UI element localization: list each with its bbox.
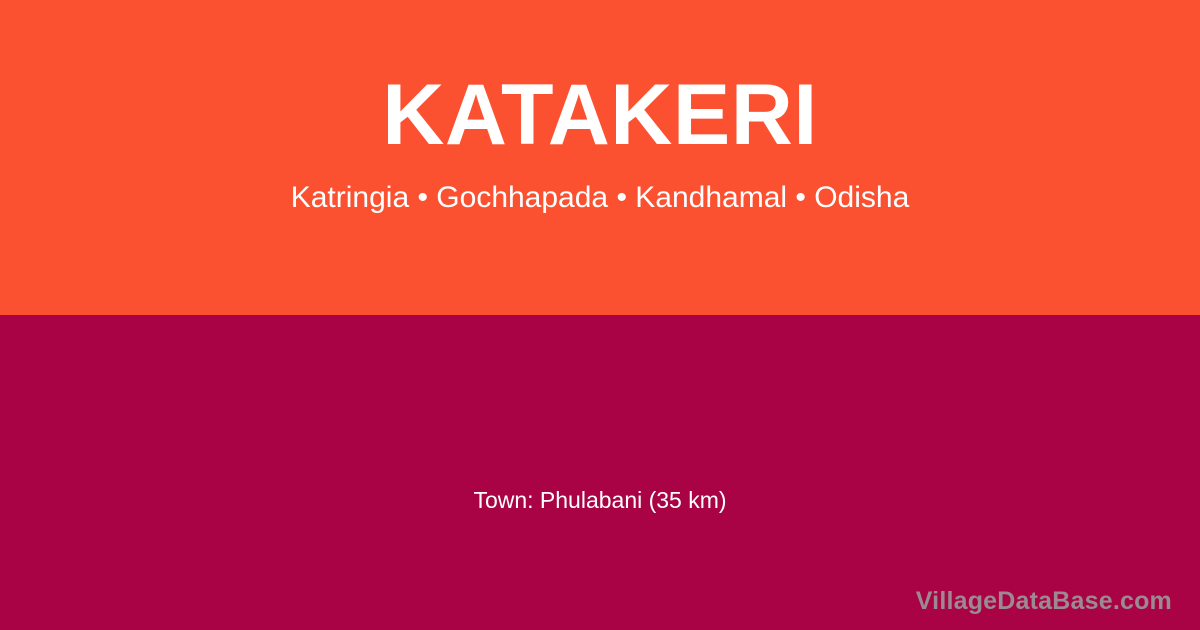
village-info-card: KATAKERI Katringia • Gochhapada • Kandha… [0,0,1200,630]
breadcrumb: Katringia • Gochhapada • Kandhamal • Odi… [291,180,910,216]
nearest-town-text: Town: Phulabani (35 km) [0,487,1200,515]
header-band: KATAKERI Katringia • Gochhapada • Kandha… [0,0,1200,315]
body-band: Town: Phulabani (35 km) [0,315,1200,630]
page-title: KATAKERI [382,72,818,158]
site-watermark: VillageDataBase.com [916,586,1172,616]
